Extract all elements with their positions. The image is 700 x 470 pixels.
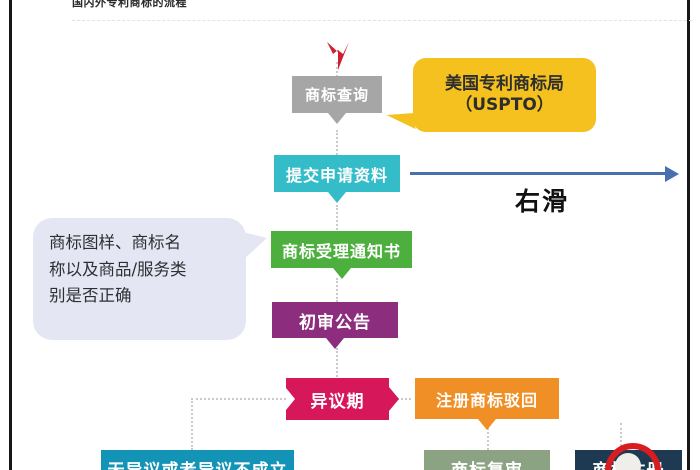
diagram-canvas: 国内外专利商标的流程 商标查询 提交申请资料 商标受理通知书 初审公告 异议期 — [0, 0, 700, 470]
notch-down-icon — [478, 419, 496, 430]
flow-node-rejected-label: 注册商标驳回 — [436, 387, 538, 411]
callout-checklist: 商标图样、商标名 称以及商品/服务类 别是否正确 — [33, 218, 246, 340]
connector-prelim-opp — [336, 348, 338, 377]
notch-left-icon — [286, 388, 295, 410]
connector-opp-noopp-h — [191, 398, 286, 400]
flow-node-rejected[interactable]: 注册商标驳回 — [415, 378, 559, 419]
connector-submit-accept — [336, 205, 338, 230]
flow-node-opposition[interactable]: 异议期 — [286, 378, 389, 420]
flow-node-search-label: 商标查询 — [305, 84, 369, 105]
notch-down-icon — [333, 268, 351, 279]
notch-down-icon — [328, 113, 346, 124]
flow-node-search[interactable]: 商标查询 — [292, 76, 382, 113]
header-divider — [72, 20, 692, 22]
connector-pointer-search — [336, 62, 338, 77]
callout-checklist-line3: 别是否正确 — [49, 283, 232, 310]
connector-search-submit — [336, 130, 338, 155]
flow-node-no-opposition-label: 无异议或者异议不成立 — [108, 456, 288, 470]
flow-node-review-label: 商标复审 — [451, 456, 523, 470]
swipe-label: 右滑 — [515, 182, 569, 218]
callout-tail-icon — [243, 232, 267, 260]
swipe-arrow-line — [410, 172, 668, 175]
swipe-arrow-head-icon — [665, 166, 679, 182]
callout-tail-icon — [386, 113, 415, 131]
flow-node-review[interactable]: 商标复审 — [424, 450, 550, 470]
flow-node-no-opposition[interactable]: 无异议或者异议不成立 — [101, 450, 294, 470]
frame-border-left — [9, 0, 12, 470]
callout-checklist-line1: 商标图样、商标名 — [49, 230, 232, 257]
callout-checklist-line2: 称以及商品/服务类 — [49, 257, 232, 284]
notch-right-icon — [389, 387, 399, 411]
flow-node-preliminary-label: 初审公告 — [299, 308, 371, 333]
flow-node-acceptance-label: 商标受理通知书 — [282, 238, 401, 262]
connector-accept-prelim — [336, 278, 338, 302]
callout-uspto-line1: 美国专利商标局 — [445, 74, 564, 95]
flow-node-opposition-label: 异议期 — [311, 387, 365, 412]
callout-uspto-line2: （USPTO） — [455, 95, 554, 116]
flow-node-preliminary[interactable]: 初审公告 — [272, 302, 398, 338]
flow-node-acceptance[interactable]: 商标受理通知书 — [271, 231, 412, 268]
page-title: 国内外专利商标的流程 — [72, 0, 332, 10]
notch-down-icon — [328, 192, 346, 203]
connector-opp-noopp-v — [191, 398, 193, 450]
red-down-arrow-icon — [325, 41, 351, 71]
flow-node-submit[interactable]: 提交申请资料 — [274, 155, 400, 192]
callout-uspto: 美国专利商标局 （USPTO） — [413, 58, 596, 132]
frame-border-right — [687, 0, 690, 470]
flow-node-submit-label: 提交申请资料 — [286, 162, 388, 186]
notch-down-icon — [326, 338, 344, 349]
